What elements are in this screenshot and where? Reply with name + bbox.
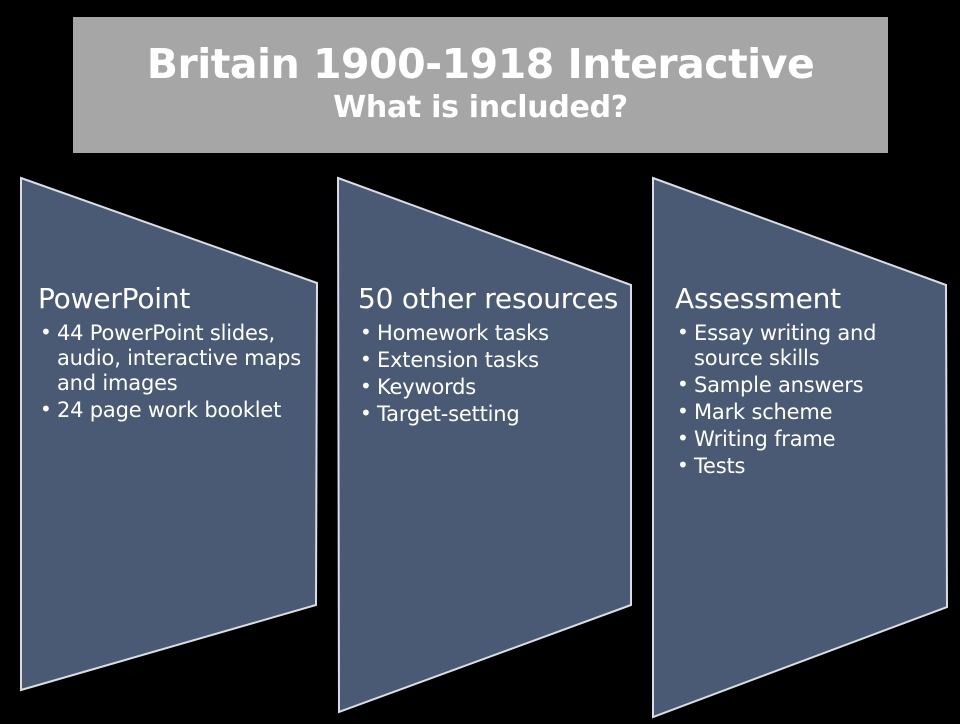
list-item: • Target-setting xyxy=(358,402,624,427)
bullet-icon: • xyxy=(360,401,372,426)
list-item-label: Homework tasks xyxy=(377,321,549,345)
list-item-label: Target-setting xyxy=(377,402,520,426)
title-banner: Britain 1900-1918 Interactive What is in… xyxy=(73,17,888,153)
bullet-icon: • xyxy=(360,320,372,345)
list-item-label: Sample answers xyxy=(694,373,863,397)
panel-other-resources-body: 50 other resources • Homework tasks • Ex… xyxy=(358,282,624,429)
bullet-icon: • xyxy=(360,374,372,399)
list-item: • Sample answers xyxy=(675,373,941,398)
list-item-label: Tests xyxy=(694,454,745,478)
panel-powerpoint-body: PowerPoint • 44 PowerPoint slides, audio… xyxy=(38,282,303,425)
list-item-label: Essay writing and source skills xyxy=(694,321,876,370)
bullet-icon: • xyxy=(677,426,689,451)
panel-assessment[interactable]: Assessment • Essay writing and source sk… xyxy=(649,172,954,724)
page-subtitle: What is included? xyxy=(333,89,628,127)
slide-canvas: Britain 1900-1918 Interactive What is in… xyxy=(0,0,960,720)
list-item-label: 44 PowerPoint slides, audio, interactive… xyxy=(57,321,301,395)
panel-other-resources[interactable]: 50 other resources • Homework tasks • Ex… xyxy=(334,172,639,720)
bullet-icon: • xyxy=(360,347,372,372)
list-item-label: Mark scheme xyxy=(694,400,832,424)
bullet-icon: • xyxy=(677,453,689,478)
chevron-shape-icon xyxy=(18,172,323,700)
bullet-icon: • xyxy=(40,320,52,345)
list-item: • Extension tasks xyxy=(358,348,624,373)
list-item: • Essay writing and source skills xyxy=(675,321,941,371)
panel-other-resources-heading: 50 other resources xyxy=(358,282,624,315)
bullet-icon: • xyxy=(677,372,689,397)
panel-powerpoint-list: • 44 PowerPoint slides, audio, interacti… xyxy=(38,321,303,423)
bullet-icon: • xyxy=(677,320,689,345)
list-item: • 24 page work booklet xyxy=(38,398,303,423)
panel-assessment-list: • Essay writing and source skills • Samp… xyxy=(675,321,941,479)
list-item-label: Extension tasks xyxy=(377,348,539,372)
page-title: Britain 1900-1918 Interactive xyxy=(147,39,815,89)
list-item: • Writing frame xyxy=(675,427,941,452)
panel-other-resources-list: • Homework tasks • Extension tasks • Key… xyxy=(358,321,624,427)
list-item: • Mark scheme xyxy=(675,400,941,425)
list-item-label: 24 page work booklet xyxy=(57,398,281,422)
chevron-shape-icon xyxy=(334,172,639,720)
bullet-icon: • xyxy=(677,399,689,424)
panel-powerpoint-heading: PowerPoint xyxy=(38,282,303,315)
list-item-label: Writing frame xyxy=(694,427,835,451)
list-item: • Keywords xyxy=(358,375,624,400)
list-item: • 44 PowerPoint slides, audio, interacti… xyxy=(38,321,303,396)
panel-assessment-body: Assessment • Essay writing and source sk… xyxy=(675,282,941,481)
list-item: • Tests xyxy=(675,454,941,479)
list-item-label: Keywords xyxy=(377,375,476,399)
panel-assessment-heading: Assessment xyxy=(675,282,941,315)
list-item: • Homework tasks xyxy=(358,321,624,346)
panel-powerpoint[interactable]: PowerPoint • 44 PowerPoint slides, audio… xyxy=(18,172,323,700)
bullet-icon: • xyxy=(40,397,52,422)
